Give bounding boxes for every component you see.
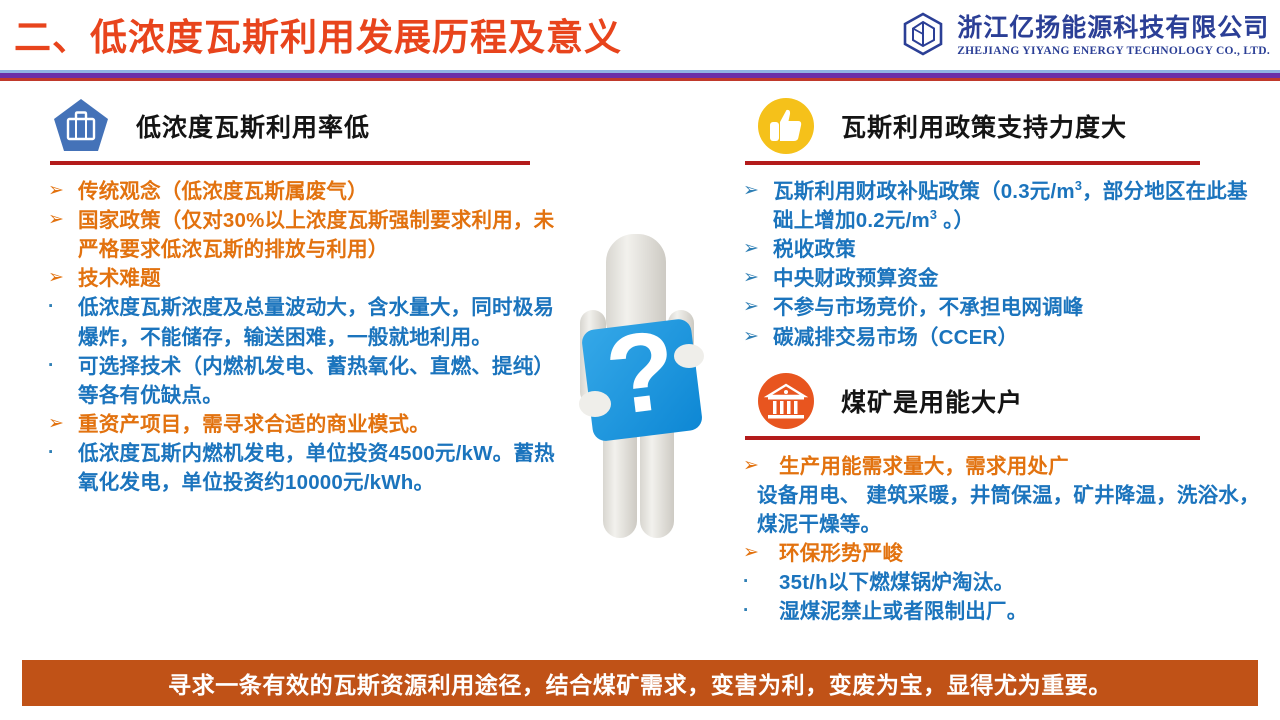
list-item-text: 设备用电、 建筑采暖，井筒保温，矿井降温，洗浴水，煤泥干燥等。 — [757, 481, 1263, 539]
arrow-bullet-icon: ➢ — [743, 177, 773, 205]
header-divider — [0, 70, 1280, 81]
subsidy-text-before: 瓦斯利用财政补贴政策（0.3元/m — [773, 180, 1075, 203]
list-item-text: 35t/h以下燃煤锅炉淘汰。 — [779, 568, 1263, 597]
arrow-bullet-icon: ➢ — [743, 539, 779, 567]
list-item: ➢ 中央财政预算资金 — [743, 264, 1263, 293]
section-coal-mine-energy: 煤矿是用能大户 ➢ 生产用能需求量大，需求用处广 设备用电、 建筑采暖，井筒保温… — [735, 370, 1265, 627]
logo-company-name-cn: 浙江亿扬能源科技有限公司 — [957, 16, 1270, 41]
section-header: 煤矿是用能大户 — [735, 370, 1265, 432]
subsidy-text-after: 。） — [937, 209, 974, 232]
briefcase-pentagon-icon — [50, 95, 112, 157]
section-underline — [50, 161, 530, 165]
list-item-text: 可选择技术（内燃机发电、蓄热氧化、直燃、提纯）等各有优缺点。 — [78, 352, 568, 410]
company-logo: 浙江亿扬能源科技有限公司 ZHEJIANG YIYANG ENERGY TECH… — [899, 10, 1270, 63]
person-holding-question-sign-icon: ? — [548, 228, 738, 558]
logo-text-block: 浙江亿扬能源科技有限公司 ZHEJIANG YIYANG ENERGY TECH… — [957, 16, 1270, 58]
arrow-bullet-icon: ➢ — [48, 410, 78, 438]
list-item-text: 不参与市场竞价，不承担电网调峰 — [773, 293, 1263, 322]
list-item: ➢ 瓦斯利用财政补贴政策（0.3元/m3，部分地区在此基础上增加0.2元/m3 … — [743, 177, 1263, 235]
list-item: · 低浓度瓦斯浓度及总量波动大，含水量大，同时极易爆炸，不能储存，输送困难，一般… — [48, 293, 568, 351]
arrow-bullet-icon: ➢ — [743, 452, 779, 480]
cubic-meter-superscript: 3 — [1075, 178, 1082, 193]
list-item: · 35t/h以下燃煤锅炉淘汰。 — [743, 568, 1263, 597]
section-low-utilization: 低浓度瓦斯利用率低 ➢ 传统观念（低浓度瓦斯属废气） ➢ 国家政策（仅对30%以… — [30, 95, 560, 497]
dot-bullet-icon: · — [743, 568, 779, 596]
right-column: 瓦斯利用政策支持力度大 ➢ 瓦斯利用财政补贴政策（0.3元/m3，部分地区在此基… — [735, 95, 1265, 626]
list-item: ➢ 碳减排交易市场（CCER） — [743, 323, 1263, 352]
arrow-bullet-icon: ➢ — [743, 293, 773, 321]
list-item: · 低浓度瓦斯内燃机发电，单位投资4500元/kW。蓄热氧化发电，单位投资约10… — [48, 439, 568, 497]
dot-bullet-icon: · — [743, 597, 779, 625]
section-underline — [745, 436, 1200, 440]
list-item-text: 环保形势严峻 — [779, 539, 1263, 568]
list-item-text: 碳减排交易市场（CCER） — [773, 323, 1263, 352]
list-item-text: 低浓度瓦斯浓度及总量波动大，含水量大，同时极易爆炸，不能储存，输送困难，一般就地… — [78, 293, 568, 351]
mine-bullet-list: ➢ 生产用能需求量大，需求用处广 设备用电、 建筑采暖，井筒保温，矿井降温，洗浴… — [743, 452, 1263, 627]
conclusion-banner-text: 寻求一条有效的瓦斯资源利用途径，结合煤矿需求，变害为利，变废为宝，显得尤为重要。 — [168, 666, 1112, 700]
arrow-bullet-icon: ➢ — [743, 235, 773, 263]
left-column: 低浓度瓦斯利用率低 ➢ 传统观念（低浓度瓦斯属废气） ➢ 国家政策（仅对30%以… — [30, 95, 560, 497]
list-item: ➢ 重资产项目，需寻求合适的商业模式。 — [48, 410, 568, 439]
list-item: ➢ 环保形势严峻 — [743, 539, 1263, 568]
section-title: 瓦斯利用政策支持力度大 — [841, 108, 1127, 144]
arrow-bullet-icon: ➢ — [743, 264, 773, 292]
list-item-text: 重资产项目，需寻求合适的商业模式。 — [78, 410, 568, 439]
list-item-text: 技术难题 — [78, 264, 568, 293]
section-policy-support: 瓦斯利用政策支持力度大 ➢ 瓦斯利用财政补贴政策（0.3元/m3，部分地区在此基… — [735, 95, 1265, 352]
list-item-text: 传统观念（低浓度瓦斯属废气） — [78, 177, 568, 206]
list-item: ➢ 国家政策（仅对30%以上浓度瓦斯强制要求利用，未严格要求低浓瓦斯的排放与利用… — [48, 206, 568, 264]
list-item: · 可选择技术（内燃机发电、蓄热氧化、直燃、提纯）等各有优缺点。 — [48, 352, 568, 410]
list-item: ➢ 税收政策 — [743, 235, 1263, 264]
conclusion-banner: 寻求一条有效的瓦斯资源利用途径，结合煤矿需求，变害为利，变废为宝，显得尤为重要。 — [22, 660, 1258, 706]
section-header: 低浓度瓦斯利用率低 — [30, 95, 560, 157]
section-title: 低浓度瓦斯利用率低 — [136, 108, 370, 144]
section-title: 煤矿是用能大户 — [841, 383, 1023, 419]
arrow-bullet-icon: ➢ — [48, 206, 78, 234]
list-item-text: 瓦斯利用财政补贴政策（0.3元/m3，部分地区在此基础上增加0.2元/m3 。） — [773, 177, 1263, 235]
left-bullet-list: ➢ 传统观念（低浓度瓦斯属废气） ➢ 国家政策（仅对30%以上浓度瓦斯强制要求利… — [48, 177, 568, 497]
list-item-text: 生产用能需求量大，需求用处广 — [779, 452, 1263, 481]
dot-bullet-icon: · — [48, 352, 78, 380]
list-item-text: 低浓度瓦斯内燃机发电，单位投资4500元/kW。蓄热氧化发电，单位投资约1000… — [78, 439, 568, 497]
list-item: ➢ 技术难题 — [48, 264, 568, 293]
list-item-text: 中央财政预算资金 — [773, 264, 1263, 293]
dot-bullet-icon: · — [48, 439, 78, 467]
list-item: ➢ 不参与市场竞价，不承担电网调峰 — [743, 293, 1263, 322]
list-item: 设备用电、 建筑采暖，井筒保温，矿井降温，洗浴水，煤泥干燥等。 — [757, 481, 1263, 539]
list-item: ➢ 生产用能需求量大，需求用处广 — [743, 452, 1263, 481]
arrow-bullet-icon: ➢ — [48, 264, 78, 292]
page-title: 二、低浓度瓦斯利用发展历程及意义 — [14, 7, 622, 61]
dot-bullet-icon: · — [48, 293, 78, 321]
policy-bullet-list: ➢ 瓦斯利用财政补贴政策（0.3元/m3，部分地区在此基础上增加0.2元/m3 … — [743, 177, 1263, 352]
list-item: ➢ 传统观念（低浓度瓦斯属废气） — [48, 177, 568, 206]
hexagon-logo-icon — [899, 10, 947, 63]
bank-building-circle-icon — [755, 370, 817, 432]
section-underline — [745, 161, 1200, 165]
presentation-slide: 二、低浓度瓦斯利用发展历程及意义 浙江亿扬能源科技有限公司 ZHEJIANG Y… — [0, 0, 1280, 720]
list-item-text: 国家政策（仅对30%以上浓度瓦斯强制要求利用，未严格要求低浓瓦斯的排放与利用） — [78, 206, 568, 264]
arrow-bullet-icon: ➢ — [743, 323, 773, 351]
arrow-bullet-icon: ➢ — [48, 177, 78, 205]
list-item: · 湿煤泥禁止或者限制出厂。 — [743, 597, 1263, 626]
divider-band-red — [0, 78, 1280, 81]
logo-company-name-en: ZHEJIANG YIYANG ENERGY TECHNOLOGY CO., L… — [957, 46, 1270, 58]
list-item-text: 税收政策 — [773, 235, 1263, 264]
list-item-text: 湿煤泥禁止或者限制出厂。 — [779, 597, 1263, 626]
section-header: 瓦斯利用政策支持力度大 — [735, 95, 1265, 157]
thumbs-up-circle-icon — [755, 95, 817, 157]
slide-header: 二、低浓度瓦斯利用发展历程及意义 浙江亿扬能源科技有限公司 ZHEJIANG Y… — [0, 0, 1280, 70]
